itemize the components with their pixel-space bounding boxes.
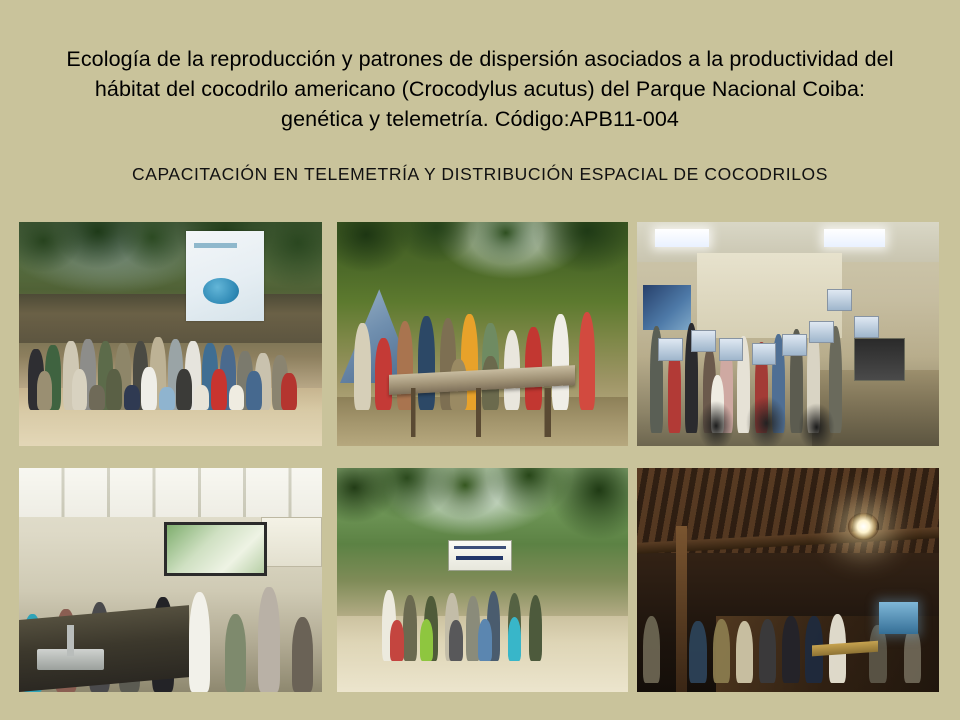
presentation-slide: Ecología de la reproducción y patrones d… — [0, 0, 960, 720]
people-row — [378, 580, 588, 661]
photo-row-1 — [19, 222, 939, 446]
photo-grid — [19, 222, 939, 692]
laptop-screen — [879, 602, 918, 633]
photo-row-2 — [19, 468, 939, 692]
banner-poster — [186, 231, 265, 321]
photo-beach-group-sign — [337, 468, 628, 692]
people-row — [25, 312, 316, 411]
page-subtitle: CAPACITACIÓN EN TELEMETRÍA Y DISTRIBUCIÓ… — [0, 163, 960, 185]
whiteboard — [261, 517, 322, 566]
photo-classroom-lecture — [19, 468, 322, 692]
location-sign — [448, 540, 512, 571]
ceiling-light-icon — [655, 229, 709, 247]
photo-field-camp-table — [337, 222, 628, 446]
faucet-shape — [67, 625, 73, 656]
subtitle-line-1: CAPACITACIÓN EN TELEMETRÍA Y DISTRIBUCIÓ… — [0, 163, 960, 185]
photo-certificate-ceremony — [637, 222, 939, 446]
photo-night-session-rancho — [637, 468, 939, 692]
ceiling-light-icon — [824, 229, 884, 247]
title-line-3: genética y telemetría. Código:APB11-004 — [0, 104, 960, 134]
page-title: Ecología de la reproducción y patrones d… — [0, 44, 960, 134]
title-line-2: hábitat del cocodrilo americano (Crocody… — [0, 74, 960, 104]
photo-group-beach-banner — [19, 222, 322, 446]
hanging-lamp-icon — [848, 513, 878, 540]
title-line-1: Ecología de la reproducción y patrones d… — [0, 44, 960, 74]
